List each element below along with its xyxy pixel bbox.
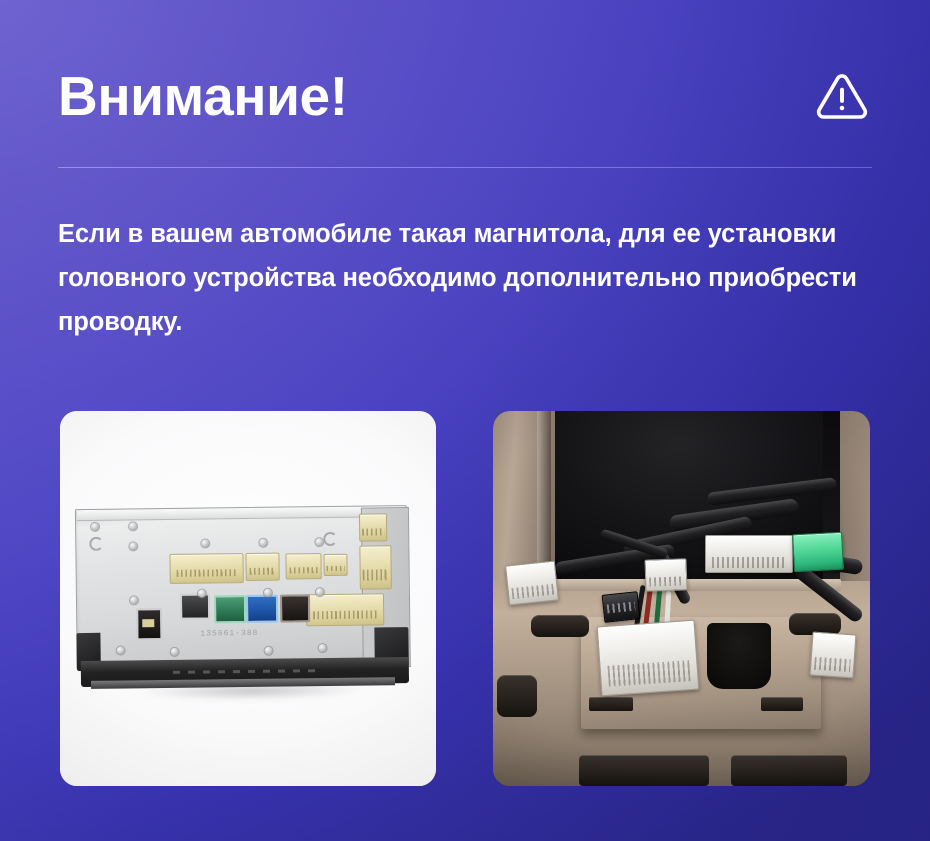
connector-blue bbox=[246, 595, 278, 623]
connector-grey bbox=[180, 593, 210, 619]
body-text: Если в вашем автомобиле такая магнитола,… bbox=[58, 212, 886, 344]
car-head-unit-rear-photo: 135661-388 bbox=[60, 411, 436, 786]
dashboard-slot bbox=[761, 697, 803, 711]
screw bbox=[315, 538, 323, 546]
screw bbox=[129, 542, 137, 550]
screw bbox=[91, 523, 99, 531]
connector-black bbox=[280, 594, 310, 622]
photo-gallery: 135661-388 bbox=[60, 411, 870, 786]
dashboard-shelf-edge bbox=[549, 579, 841, 591]
dashboard-wiring-harness-photo bbox=[493, 411, 870, 786]
dashboard-slot bbox=[731, 755, 847, 786]
screw bbox=[259, 539, 267, 547]
harness-connector-white-large bbox=[597, 620, 700, 697]
harness-connector-black bbox=[602, 591, 641, 623]
connector-green bbox=[214, 595, 246, 623]
device-vent-slot bbox=[173, 669, 323, 674]
screw bbox=[129, 522, 137, 530]
warning-triangle-icon bbox=[814, 68, 872, 124]
screw bbox=[319, 644, 327, 652]
screw bbox=[171, 648, 179, 656]
chassis-hook bbox=[89, 537, 103, 551]
connector-cream-main bbox=[306, 593, 384, 626]
screw bbox=[264, 589, 272, 597]
dashboard-cutout bbox=[707, 623, 771, 689]
connector-cream-6 bbox=[359, 545, 392, 589]
screw bbox=[117, 647, 125, 655]
harness-connector-white-right bbox=[810, 632, 857, 679]
connector-square-black bbox=[136, 608, 162, 640]
page-title: Внимание! bbox=[58, 64, 348, 128]
connector-cream-2 bbox=[245, 553, 279, 581]
dashboard-slot bbox=[589, 697, 633, 711]
harness-connector-white-mid bbox=[644, 558, 687, 591]
warning-slide: Внимание! Если в вашем автомобиле такая … bbox=[0, 0, 930, 841]
head-unit-scene: 135661-388 bbox=[60, 411, 436, 786]
harness-connector-white-left bbox=[505, 560, 559, 605]
slide-header: Внимание! bbox=[58, 56, 872, 136]
connector-cream-wide bbox=[169, 553, 243, 584]
harness-connector-white-double bbox=[705, 535, 793, 573]
screw bbox=[130, 596, 138, 604]
screw bbox=[316, 588, 324, 596]
dashboard-slot bbox=[531, 615, 589, 637]
connector-cream-3 bbox=[285, 553, 321, 579]
head-unit-device: 135661-388 bbox=[73, 501, 423, 699]
screw bbox=[198, 590, 206, 598]
dashboard-slot bbox=[497, 675, 537, 717]
chassis-hook bbox=[323, 532, 337, 546]
dashboard-scene bbox=[493, 411, 870, 786]
harness-connector-green bbox=[792, 532, 844, 573]
connector-cream-5 bbox=[359, 513, 387, 541]
screw bbox=[265, 647, 273, 655]
header-divider bbox=[58, 167, 872, 168]
connector-cream-4 bbox=[323, 554, 347, 576]
dashboard-slot bbox=[579, 755, 709, 786]
device-part-number: 135661-388 bbox=[200, 629, 258, 639]
screw bbox=[201, 539, 209, 547]
